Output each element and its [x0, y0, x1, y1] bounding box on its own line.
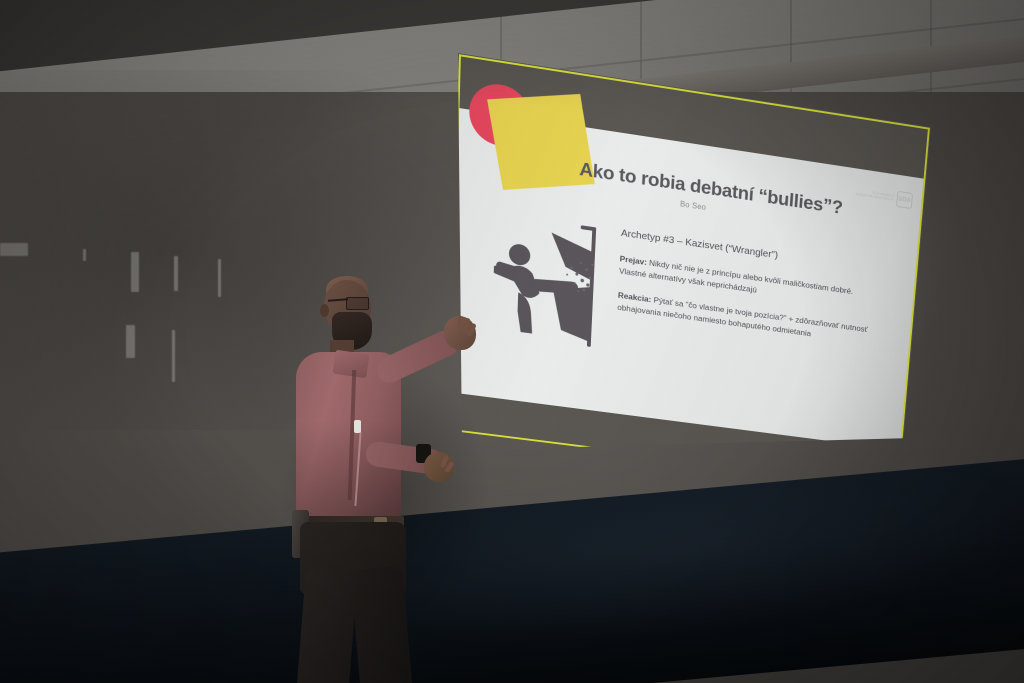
- slide-content: Ako to robia debatní “bullies”? Bo Seo S…: [450, 56, 928, 484]
- projected-slide-photo: Ako to robia debatní “bullies”? Bo Seo S…: [0, 0, 1024, 683]
- wall-mark: [126, 325, 135, 358]
- presenter: [258, 270, 498, 683]
- paragraph-prejav-label: Prejav:: [619, 254, 647, 267]
- wall-mark: [0, 243, 28, 256]
- wall-mark: [131, 252, 139, 292]
- presenter-ear: [320, 304, 329, 317]
- glasses-icon: [346, 297, 369, 310]
- wall-mark: [218, 259, 221, 297]
- presenter-raised-hand: [444, 316, 476, 350]
- finger: [458, 316, 464, 330]
- wall-mark: [83, 249, 86, 261]
- watermark-text: SLOVENSKÁ DEBATNÁ ASOCIÁCIA: [856, 188, 894, 202]
- presenter-lower-hand: [424, 452, 454, 482]
- presenter-back-leg: [350, 566, 428, 683]
- presenter-front-leg: [281, 568, 358, 683]
- wall-mark: [174, 256, 178, 291]
- wall-mark: [172, 330, 175, 382]
- kicking-door-pictogram: [492, 209, 610, 352]
- shirt-collar: [332, 350, 369, 378]
- slide: Ako to robia debatní “bullies”? Bo Seo S…: [447, 53, 931, 488]
- watermark-badge: SDA: [896, 190, 913, 208]
